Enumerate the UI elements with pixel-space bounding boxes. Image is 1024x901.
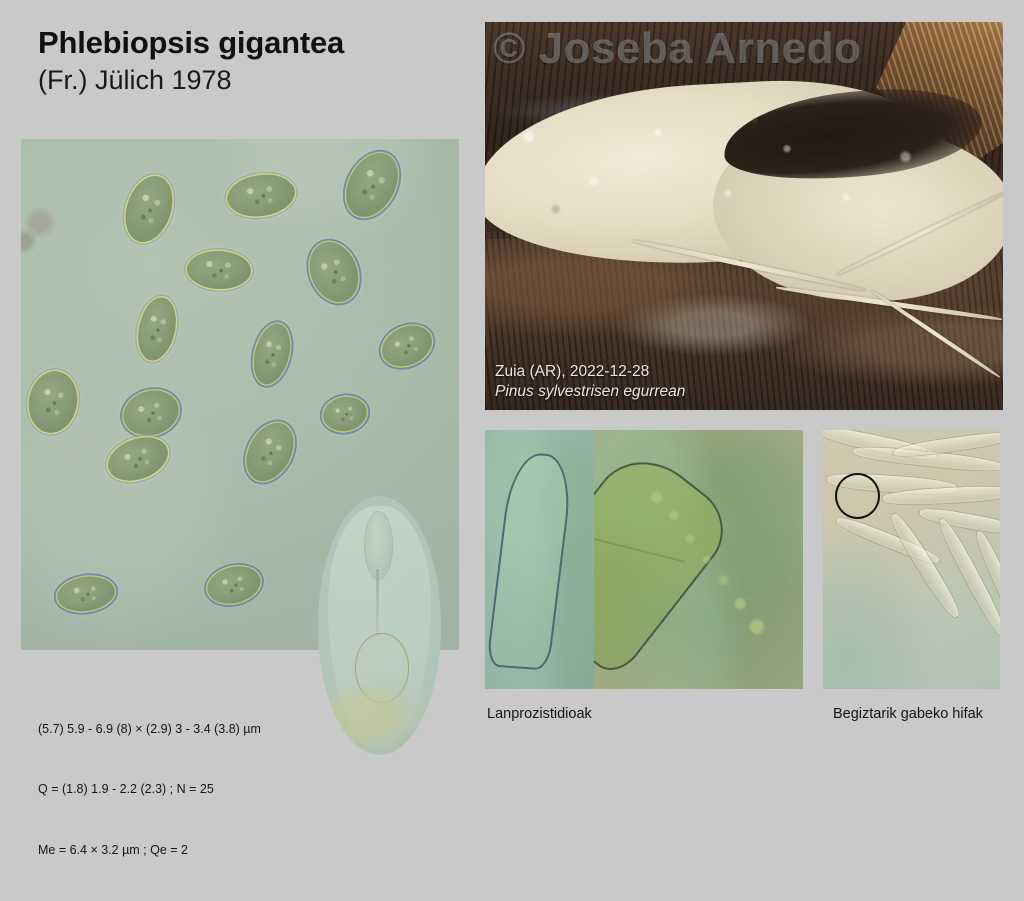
sterigma-stalk xyxy=(376,569,379,636)
measurement-quotient: Q = (1.8) 1.9 - 2.2 (2.3) ; N = 25 xyxy=(38,779,261,799)
hyphae-micrograph xyxy=(823,430,1000,689)
page-title: Phlebiopsis gigantea xyxy=(38,26,458,61)
habitat-locality: Zuia (AR), 2022-12-28 xyxy=(495,362,685,382)
basidium-lower-blur xyxy=(318,662,441,755)
caption-clampless-hyphae: Begiztarik gabeko hifak xyxy=(833,706,983,722)
basidium-inset-micrograph xyxy=(318,496,441,755)
measurement-dimensions: (5.7) 5.9 - 6.9 (8) × (2.9) 3 - 3.4 (3.8… xyxy=(38,719,261,739)
title-block: Phlebiopsis gigantea (Fr.) Jülich 1978 xyxy=(38,26,458,95)
cystidium-micrograph-right xyxy=(594,430,803,689)
habitat-caption: Zuia (AR), 2022-12-28 Pinus sylvestrisen… xyxy=(495,362,685,402)
caption-lamprocystidia: Lanprozistidioak xyxy=(487,706,592,722)
clampless-septum-annotation-circle xyxy=(835,473,880,519)
habitat-photograph: © Joseba Arnedo Zuia (AR), 2022-12-28 Pi… xyxy=(485,22,1003,410)
cystidia-micrograph-pair xyxy=(485,430,803,689)
hypha-strand xyxy=(935,516,1000,637)
measurement-mean: Me = 6.4 × 3.2 µm ; Qe = 2 xyxy=(38,840,261,860)
crystal-encrustation xyxy=(594,430,803,689)
species-authority: (Fr.) Jülich 1978 xyxy=(38,65,458,96)
crust-granular-texture xyxy=(485,76,1003,278)
hyphae-green-wash xyxy=(823,528,933,689)
spore-measurements: (5.7) 5.9 - 6.9 (8) × (2.9) 3 - 3.4 (3.8… xyxy=(38,678,261,901)
cystidium-micrograph-left xyxy=(485,430,594,689)
mycology-plate: Phlebiopsis gigantea (Fr.) Jülich 1978 (… xyxy=(0,0,1024,794)
habitat-substrate: Pinus sylvestrisen egurrean xyxy=(495,382,685,402)
